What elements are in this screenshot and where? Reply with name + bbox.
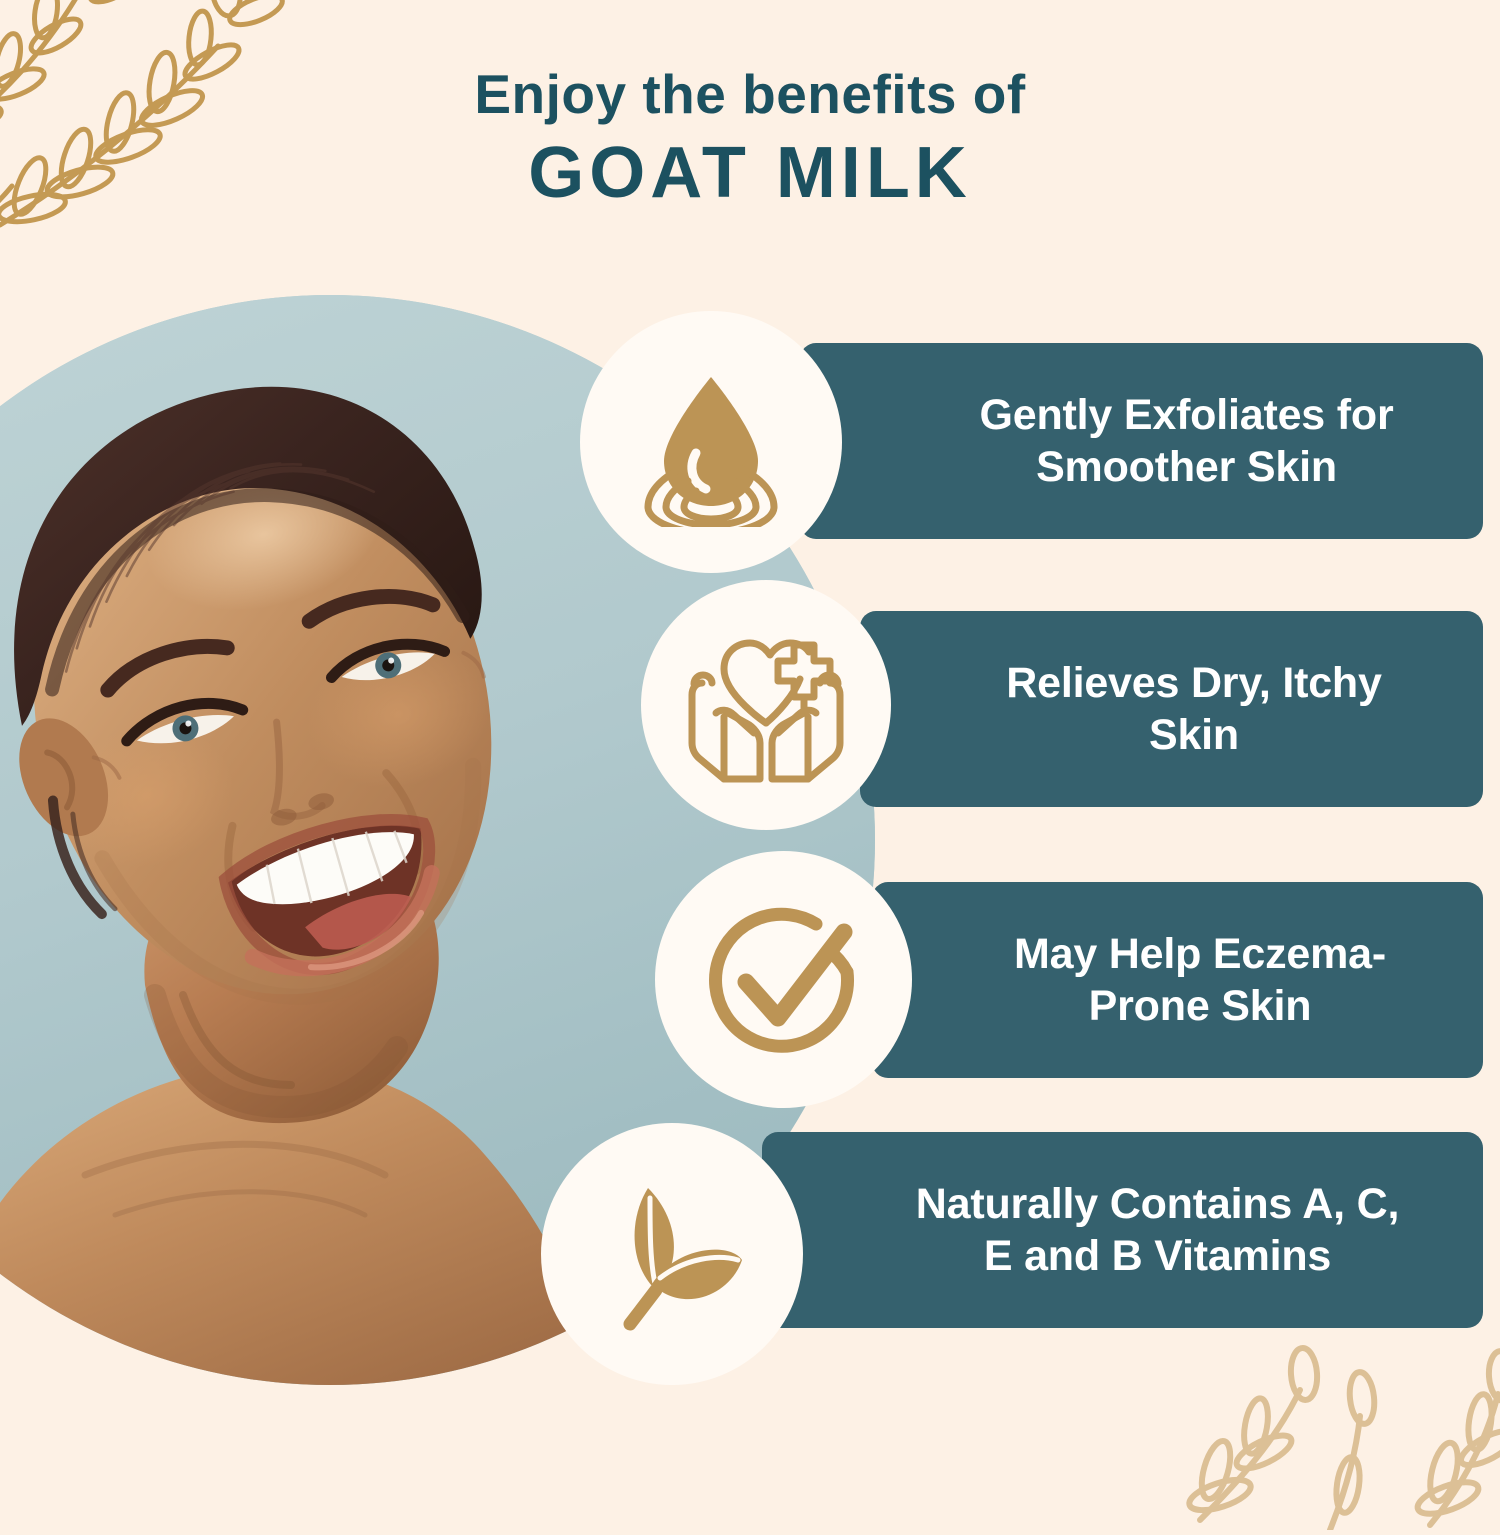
benefit-card-1[interactable]: Gently Exfoliates for Smoother Skin	[800, 343, 1483, 539]
heading-line-1: Enjoy the benefits of	[0, 66, 1500, 124]
benefit-icon-bubble-1	[580, 311, 842, 573]
hands-holding-heart-cross-icon	[682, 621, 850, 789]
water-drop-ripple-icon	[626, 357, 796, 527]
benefit-1-line-2: Smoother Skin	[1036, 443, 1337, 491]
benefit-text-1: Gently Exfoliates for Smoother Skin	[962, 389, 1412, 494]
benefit-card-2[interactable]: Relieves Dry, Itchy Skin	[860, 611, 1483, 807]
benefit-1-line-1: Gently Exfoliates for	[980, 391, 1394, 439]
benefit-2-line-1: Relieves Dry, Itchy	[1006, 659, 1381, 707]
benefit-3-line-2: Prone Skin	[1089, 982, 1312, 1030]
heading-line-2: GOAT MILK	[0, 130, 1500, 216]
benefit-icon-bubble-3	[655, 851, 912, 1108]
benefit-3-line-1: May Help Eczema-	[1014, 930, 1386, 978]
infographic-canvas: Enjoy the benefits of GOAT MILK	[0, 0, 1500, 1500]
benefit-icon-bubble-4	[541, 1123, 803, 1385]
benefit-card-4[interactable]: Naturally Contains A, C, E and B Vitamin…	[762, 1132, 1483, 1328]
benefit-4-line-2: E and B Vitamins	[984, 1232, 1331, 1280]
circle-check-icon	[698, 894, 870, 1066]
page-title: Enjoy the benefits of GOAT MILK	[0, 66, 1500, 216]
benefit-text-3: May Help Eczema- Prone Skin	[996, 928, 1404, 1033]
botanical-branch-bottom-right-icon	[1180, 1320, 1500, 1530]
benefit-icon-bubble-2	[641, 580, 891, 830]
benefit-2-line-2: Skin	[1149, 711, 1239, 759]
benefit-card-3[interactable]: May Help Eczema- Prone Skin	[872, 882, 1483, 1078]
benefit-4-line-1: Naturally Contains A, C,	[916, 1180, 1399, 1228]
leaf-sprout-icon	[590, 1172, 755, 1337]
benefit-text-2: Relieves Dry, Itchy Skin	[988, 657, 1399, 762]
benefit-text-4: Naturally Contains A, C, E and B Vitamin…	[898, 1178, 1417, 1283]
